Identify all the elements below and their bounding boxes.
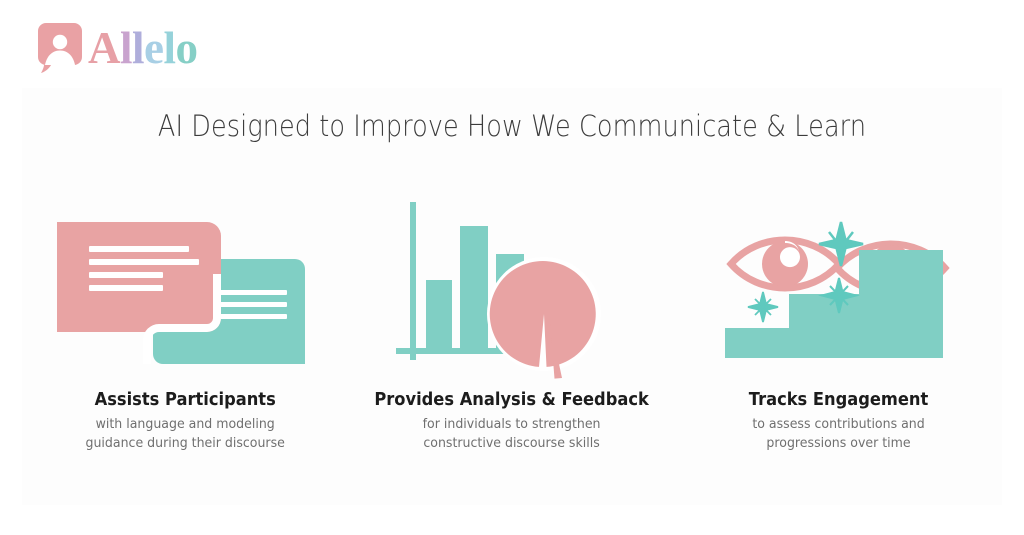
feature-subtitle-line: guidance during their discourse — [86, 434, 285, 454]
feature-list: Assists Participants with language and m… — [22, 196, 1002, 454]
brand-letter-5: o — [176, 26, 198, 71]
feature-title: Tracks Engagement — [749, 390, 929, 412]
feature-subtitle: to assess contributions and progressions… — [749, 415, 929, 454]
feature-card-assists-participants: Assists Participants with language and m… — [22, 196, 349, 454]
feature-subtitle-line: progressions over time — [749, 434, 929, 454]
feature-card-provides-analysis-feedback: Provides Analysis & Feedback for individ… — [349, 196, 676, 454]
feature-subtitle-line: constructive discourse skills — [375, 434, 649, 454]
feature-card-tracks-engagement: Tracks Engagement to assess contribution… — [675, 196, 1002, 454]
chat-cards-icon — [45, 196, 325, 386]
page-title: AI Designed to Improve How We Communicat… — [81, 109, 943, 143]
feature-subtitle-line: to assess contributions and — [749, 415, 929, 435]
brand-letter-0: A — [88, 26, 120, 71]
brand-logo[interactable]: Allelo — [38, 22, 198, 74]
feature-subtitle: for individuals to strengthen constructi… — [375, 415, 649, 454]
brand-letter-3: e — [144, 26, 163, 71]
feature-subtitle-line: for individuals to strengthen — [375, 415, 649, 435]
feature-subtitle-line: with language and modeling — [86, 415, 285, 435]
feature-title: Assists Participants — [86, 390, 285, 412]
sparkle-icon — [819, 222, 863, 266]
feature-caption: Provides Analysis & Feedback for individ… — [364, 390, 659, 454]
sparkle-icon — [748, 292, 778, 322]
feature-caption: Tracks Engagement to assess contribution… — [742, 390, 935, 454]
brand-wordmark: Allelo — [88, 26, 198, 71]
brand-letter-2: l — [132, 26, 144, 71]
bar-2 — [460, 226, 488, 348]
feature-title: Provides Analysis & Feedback — [375, 390, 649, 412]
infographic-page: Allelo AI Designed to Improve How We Com… — [0, 0, 1024, 535]
speech-bubble-person-icon — [38, 23, 82, 73]
brand-letter-1: l — [120, 26, 132, 71]
content-panel: AI Designed to Improve How We Communicat… — [22, 88, 1002, 505]
eyes-stairs-icon — [699, 196, 979, 386]
eye-left — [731, 240, 839, 288]
bar-pie-chart-icon — [372, 196, 652, 386]
feature-caption: Assists Participants with language and m… — [78, 390, 292, 454]
brand-letter-4: l — [164, 26, 176, 71]
feature-subtitle: with language and modeling guidance duri… — [86, 415, 285, 454]
bar-1 — [426, 280, 452, 348]
